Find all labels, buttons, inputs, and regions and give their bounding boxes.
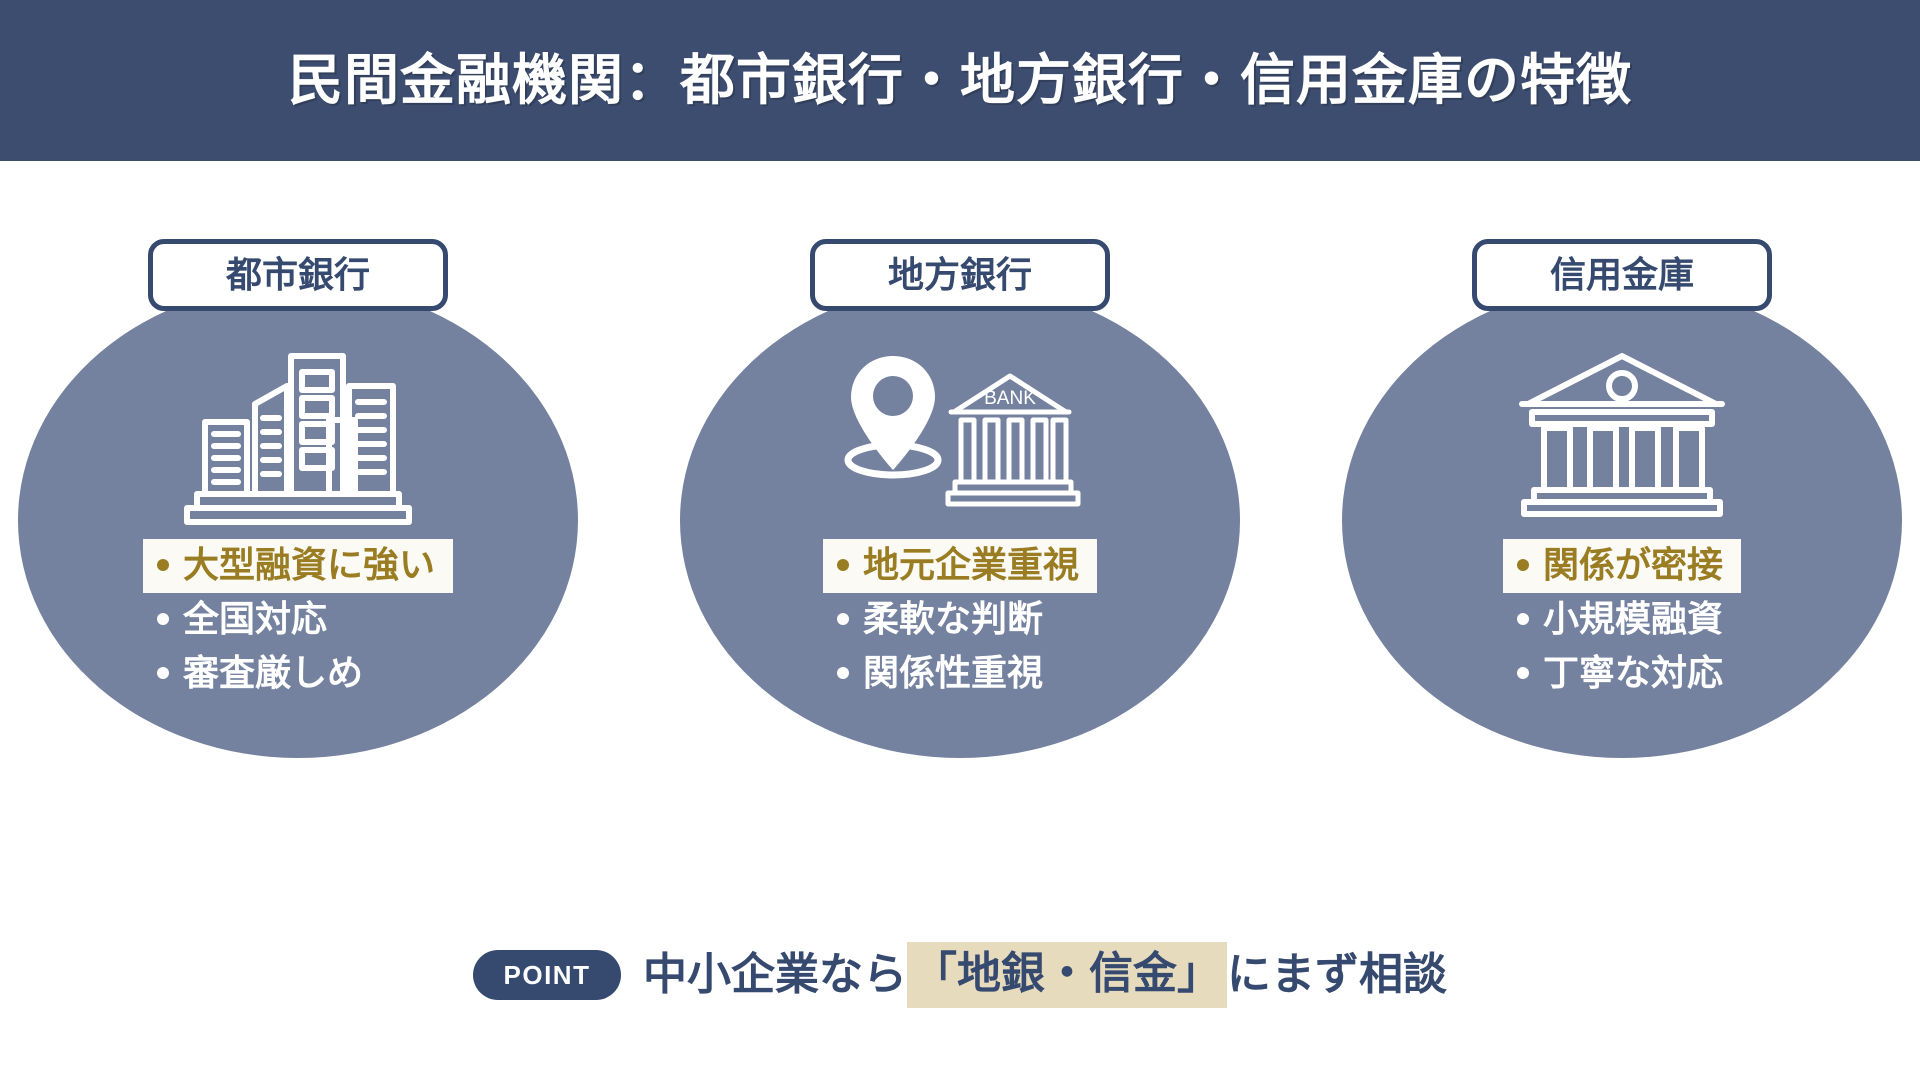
bullet-dot-icon (1517, 667, 1529, 679)
card-regional-bank: 地方銀行 (680, 239, 1240, 799)
card-body: 大型融資に強い 全国対応 審査厳しめ (18, 339, 578, 701)
list-item: 関係性重視 (823, 647, 1061, 701)
card-city-bank: 都市銀行 (18, 239, 578, 799)
footer-point-row: POINT 中小企業なら 「地銀・信金」 にまず相談 (0, 930, 1920, 1020)
bullet-dot-icon (157, 613, 169, 625)
footer-text-after: にまず相談 (1227, 947, 1447, 1003)
card-bullet-list: 地元企業重視 柔軟な判断 関係性重視 (823, 539, 1097, 701)
card-bullet-list: 大型融資に強い 全国対応 審査厳しめ (143, 539, 453, 701)
bullet-dot-icon (837, 667, 849, 679)
map-pin-bank-icon: BANK (835, 339, 1085, 529)
list-item: 全国対応 (143, 593, 345, 647)
card-bullet-list: 関係が密接 小規模融資 丁寧な対応 (1503, 539, 1741, 701)
bullet-dot-icon (1517, 559, 1529, 571)
list-item: 大型融資に強い (143, 539, 453, 593)
header-bar: 民間金融機関：都市銀行・地方銀行・信用金庫の特徴 (0, 0, 1920, 161)
page-title: 民間金融機関：都市銀行・地方銀行・信用金庫の特徴 (288, 53, 1632, 108)
footer-text-highlight: 「地銀・信金」 (907, 942, 1227, 1008)
list-item: 地元企業重視 (823, 539, 1097, 593)
card-badge-label: 地方銀行 (888, 257, 1032, 293)
bullet-text: 大型融資に強い (183, 547, 435, 583)
footer-message: 中小企業なら 「地銀・信金」 にまず相談 (643, 942, 1447, 1008)
card-body: BANK 地元企業重視 柔軟な判断 関係性重視 (680, 339, 1240, 701)
footer-text-before: 中小企業なら (643, 947, 907, 1003)
bullet-text: 小規模融資 (1543, 601, 1723, 637)
bullet-dot-icon (837, 559, 849, 571)
list-item: 審査厳しめ (143, 647, 381, 701)
bank-label-text: BANK (984, 388, 1036, 409)
infographic-root: 民間金融機関：都市銀行・地方銀行・信用金庫の特徴 都市銀行 (0, 0, 1920, 1080)
list-item: 丁寧な対応 (1503, 647, 1741, 701)
card-body: 関係が密接 小規模融資 丁寧な対応 (1342, 339, 1902, 701)
list-item: 柔軟な判断 (823, 593, 1061, 647)
bullet-dot-icon (157, 667, 169, 679)
bullet-text: 柔軟な判断 (863, 601, 1043, 637)
classical-bank-icon (1512, 339, 1732, 529)
cards-row: 都市銀行 (0, 161, 1920, 901)
card-badge-city-bank: 都市銀行 (148, 239, 448, 311)
card-shinkin-bank: 信用金庫 (1342, 239, 1902, 799)
bullet-text: 関係性重視 (863, 655, 1043, 691)
card-badge-label: 信用金庫 (1550, 257, 1694, 293)
bullet-dot-icon (837, 613, 849, 625)
list-item: 関係が密接 (1503, 539, 1741, 593)
list-item: 小規模融資 (1503, 593, 1741, 647)
bullet-dot-icon (157, 559, 169, 571)
bullet-text: 地元企業重視 (863, 547, 1079, 583)
bullet-dot-icon (1517, 613, 1529, 625)
bullet-text: 審査厳しめ (183, 655, 363, 691)
point-badge: POINT (473, 950, 621, 1000)
bullet-text: 丁寧な対応 (1543, 655, 1723, 691)
card-badge-shinkin-bank: 信用金庫 (1472, 239, 1772, 311)
map-pin-shape (848, 356, 938, 475)
bullet-text: 全国対応 (183, 601, 327, 637)
card-badge-regional-bank: 地方銀行 (810, 239, 1110, 311)
point-badge-label: POINT (504, 960, 591, 991)
card-badge-label: 都市銀行 (226, 257, 370, 293)
bullet-text: 関係が密接 (1543, 547, 1723, 583)
city-buildings-icon (183, 339, 413, 529)
